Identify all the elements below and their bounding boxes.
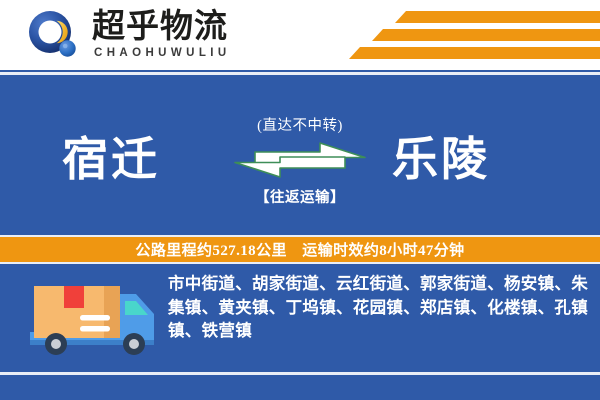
- route-middle-block: (直达不中转) 【往返运输】: [225, 110, 375, 225]
- stripe-bar-1: [395, 11, 600, 23]
- footer-divider: [0, 372, 600, 375]
- round-trip-note: 【往返运输】: [225, 186, 375, 207]
- brand-name-en: CHAOHUWULIU: [94, 47, 231, 59]
- bidirectional-arrow-icon: [225, 140, 375, 180]
- stripe-bar-3: [349, 47, 600, 59]
- poster-header: 超乎物流 CHAOHUWULIU: [0, 0, 600, 70]
- direct-route-note: (直达不中转): [225, 114, 375, 135]
- circle-q-logo-icon: [26, 10, 84, 62]
- coverage-towns-list: 市中街道、胡家街道、云红街道、郭家街道、杨安镇、朱集镇、黄夹镇、丁坞镇、花园镇、…: [168, 272, 588, 343]
- coverage-section: 市中街道、胡家街道、云红街道、郭家街道、杨安镇、朱集镇、黄夹镇、丁坞镇、花园镇、…: [0, 272, 600, 367]
- origin-city: 宿迁: [62, 132, 160, 188]
- delivery-truck-icon: [24, 274, 164, 362]
- logistics-route-poster: 超乎物流 CHAOHUWULIU 宿迁 (直达不中转) 【往返运输】: [0, 0, 600, 400]
- header-divider: [0, 72, 600, 75]
- distance-duration-text: 公路里程约527.18公里 运输时效约8小时47分钟: [135, 239, 464, 260]
- stripe-bar-2: [372, 29, 600, 41]
- distance-duration-bar: 公路里程约527.18公里 运输时效约8小时47分钟: [0, 235, 600, 264]
- brand-name-cn: 超乎物流: [92, 8, 228, 46]
- destination-city: 乐陵: [392, 132, 490, 188]
- orange-speed-stripes-icon: [340, 8, 600, 64]
- brand-logo-block: 超乎物流 CHAOHUWULIU: [26, 8, 326, 64]
- route-section: 宿迁 (直达不中转) 【往返运输】 乐陵: [0, 110, 600, 225]
